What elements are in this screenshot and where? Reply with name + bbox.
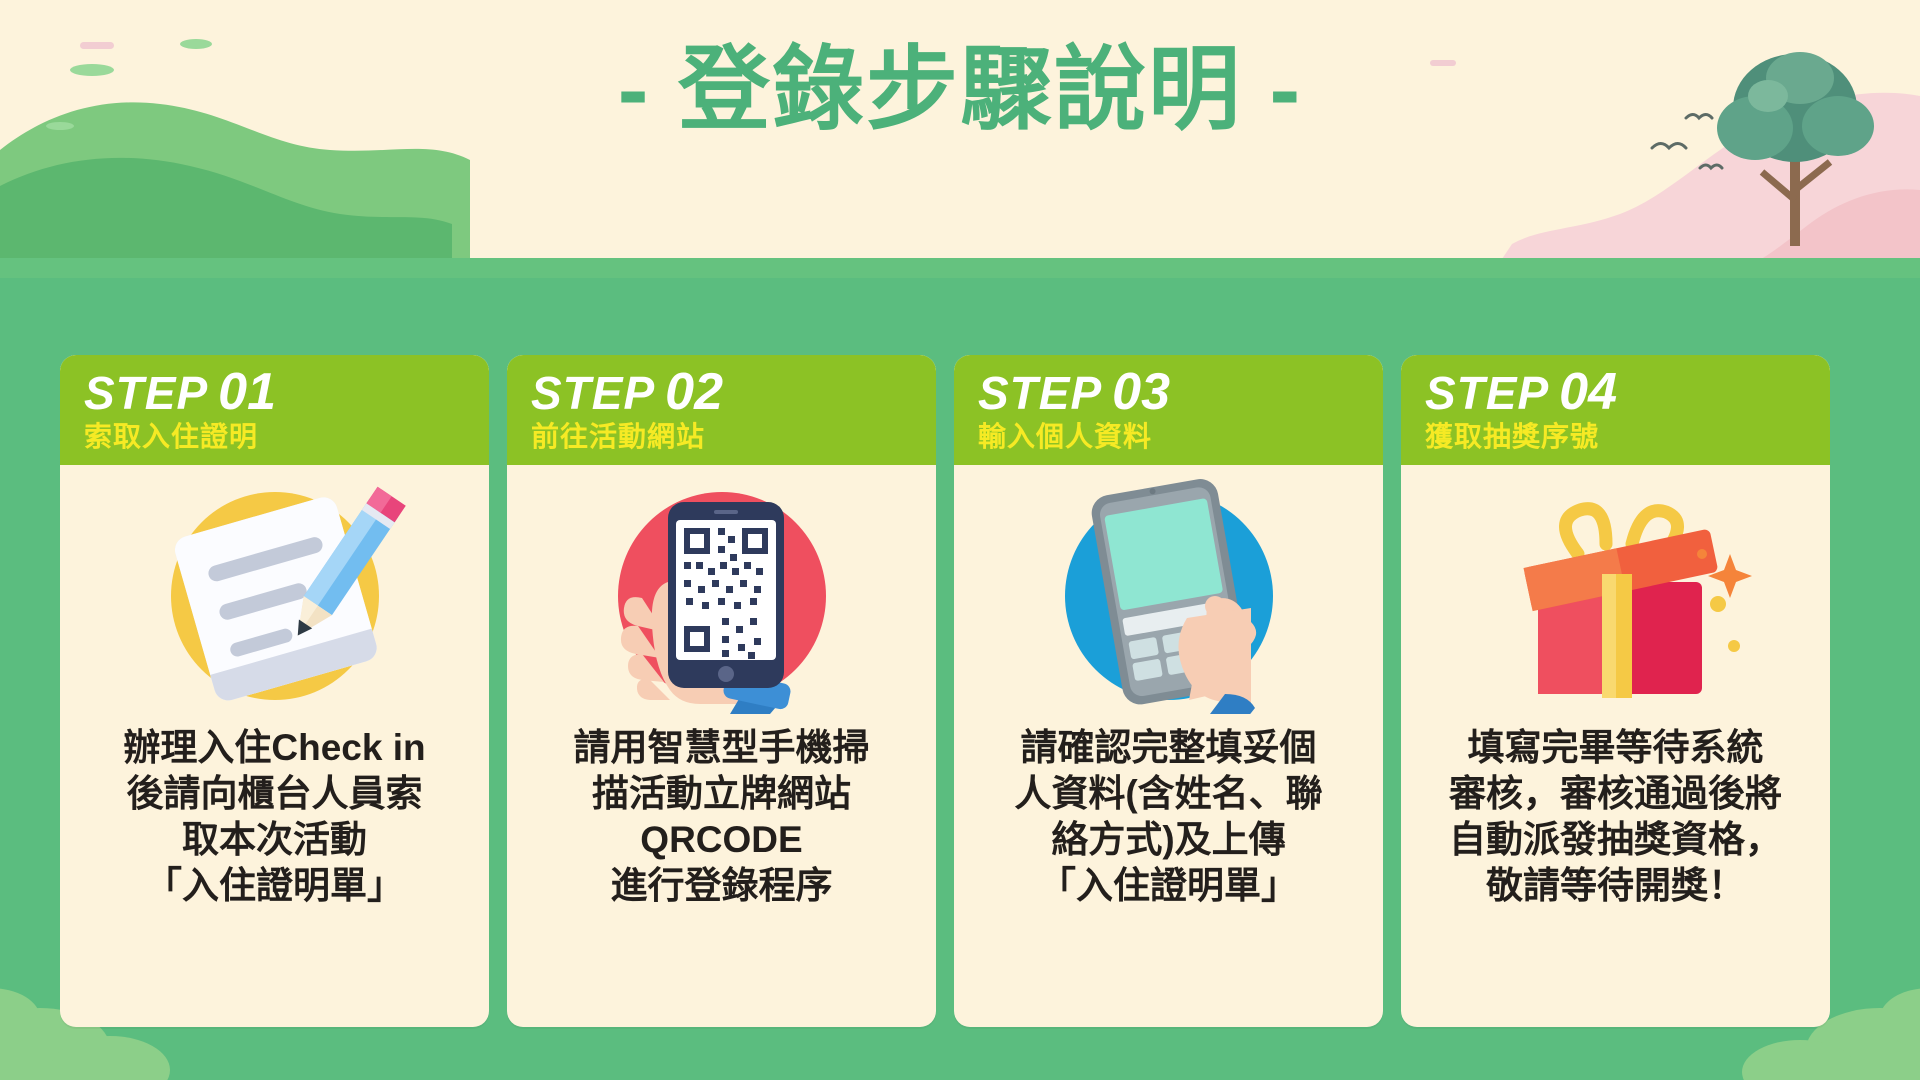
step-card-3-line-2: 人資料(含姓名、聯 <box>964 771 1373 817</box>
phone-shape-icon <box>668 502 784 688</box>
step-card-4-line-3: 自動派發抽獎資格， <box>1411 817 1820 863</box>
step-card-4[interactable]: STEP04 獲取抽獎序號 <box>1401 355 1830 1027</box>
step-card-3-line-4: 「入住證明單」 <box>964 863 1373 909</box>
step-card-1-label: STEP <box>84 367 208 419</box>
step-card-3-art <box>954 465 1383 721</box>
step-card-2[interactable]: STEP02 前往活動網站 <box>507 355 936 1027</box>
step-card-4-header: STEP04 獲取抽獎序號 <box>1401 355 1830 465</box>
gift-box-icon <box>1466 478 1766 714</box>
step-card-2-number: 02 <box>665 363 723 421</box>
step-card-1-number: 01 <box>218 363 276 421</box>
step-card-1-body: 辦理入住Check in 後請向櫃台人員索 取本次活動 「入住證明單」 <box>60 721 489 1027</box>
step-card-4-label-line: STEP04 <box>1425 365 1830 420</box>
step-card-4-label: STEP <box>1425 367 1549 419</box>
hand-phone-qrcode-icon <box>572 478 872 714</box>
step-card-2-art <box>507 465 936 721</box>
step-card-3-line-1: 請確認完整填妥個 <box>964 725 1373 771</box>
step-card-4-body: 填寫完畢等待系統 審核，審核通過後將 自動派發抽獎資格， 敬請等待開獎！ <box>1401 721 1830 1027</box>
step-card-3-label: STEP <box>978 367 1102 419</box>
steps-card-list: STEP01 索取入住證明 <box>60 355 1860 1035</box>
step-card-2-label: STEP <box>531 367 655 419</box>
step-card-3-body: 請確認完整填妥個 人資料(含姓名、聯 絡方式)及上傳 「入住證明單」 <box>954 721 1383 1027</box>
step-card-3-label-line: STEP03 <box>978 365 1383 420</box>
step-card-1-line-4: 「入住證明單」 <box>70 863 479 909</box>
step-card-1[interactable]: STEP01 索取入住證明 <box>60 355 489 1027</box>
step-card-2-label-line: STEP02 <box>531 365 936 420</box>
page-title: - 登錄步驟說明 - <box>618 44 1302 136</box>
notepad-pencil-icon <box>125 478 425 714</box>
step-card-1-label-line: STEP01 <box>84 365 489 420</box>
step-card-4-subtitle: 獲取抽獎序號 <box>1425 420 1830 454</box>
step-card-4-art <box>1401 465 1830 721</box>
step-card-2-line-1: 請用智慧型手機掃 <box>517 725 926 771</box>
step-card-1-header: STEP01 索取入住證明 <box>60 355 489 465</box>
step-card-1-line-1: 辦理入住Check in <box>70 725 479 771</box>
step-card-3-header: STEP03 輸入個人資料 <box>954 355 1383 465</box>
step-card-1-subtitle: 索取入住證明 <box>84 420 489 454</box>
hand-phone-form-icon <box>1019 478 1319 714</box>
step-card-1-line-2: 後請向櫃台人員索 <box>70 771 479 817</box>
step-card-4-line-4: 敬請等待開獎！ <box>1411 863 1820 909</box>
step-card-2-line-3: QRCODE <box>517 817 926 863</box>
step-card-2-line-4: 進行登錄程序 <box>517 863 926 909</box>
step-card-3-subtitle: 輸入個人資料 <box>978 420 1383 454</box>
step-card-4-line-1: 填寫完畢等待系統 <box>1411 725 1820 771</box>
step-card-2-header: STEP02 前往活動網站 <box>507 355 936 465</box>
step-card-2-line-2: 描活動立牌網站 <box>517 771 926 817</box>
step-card-1-line-3: 取本次活動 <box>70 817 479 863</box>
step-card-1-art <box>60 465 489 721</box>
step-card-2-body: 請用智慧型手機掃 描活動立牌網站 QRCODE 進行登錄程序 <box>507 721 936 1027</box>
step-card-2-subtitle: 前往活動網站 <box>531 420 936 454</box>
page-title-wrap: - 登錄步驟說明 - <box>0 44 1920 136</box>
panel-top-shade-icon <box>0 258 1920 278</box>
step-card-4-number: 04 <box>1559 363 1617 421</box>
step-card-3[interactable]: STEP03 輸入個人資料 <box>954 355 1383 1027</box>
step-card-4-line-2: 審核，審核通過後將 <box>1411 771 1820 817</box>
infographic-stage: - 登錄步驟說明 - STEP01 <box>0 0 1920 1080</box>
step-card-3-number: 03 <box>1112 363 1170 421</box>
step-card-3-line-3: 絡方式)及上傳 <box>964 817 1373 863</box>
